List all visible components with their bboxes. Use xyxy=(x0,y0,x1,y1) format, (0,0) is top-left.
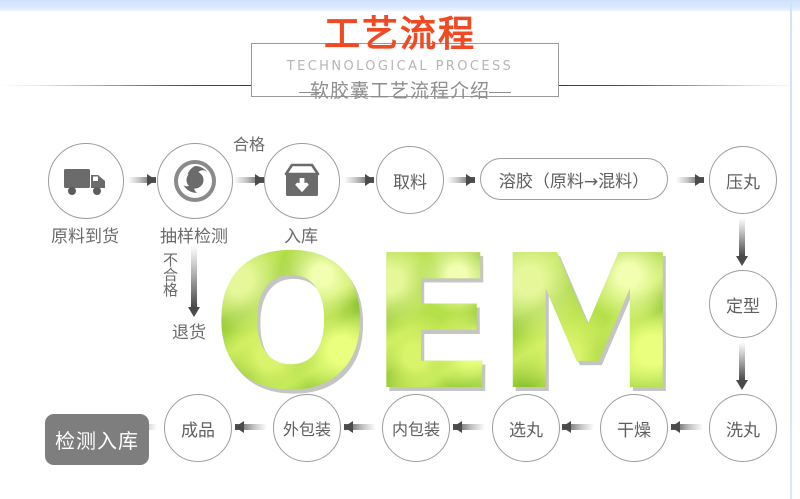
caption-warehouse-in: 入库 xyxy=(234,222,368,247)
node-label-drying: 干燥 xyxy=(617,416,651,441)
edge-label-qualified: 合格 xyxy=(214,131,284,155)
oem-letter-m: M xyxy=(496,248,680,398)
inbox-down-icon xyxy=(282,162,322,200)
node-take-material[interactable]: 取料 xyxy=(376,146,444,214)
oem-watermark: O E M xyxy=(196,238,696,408)
arrow-take-to-gel xyxy=(447,174,475,186)
top-blue-band xyxy=(0,0,800,12)
node-outer-packaging[interactable]: 外包装 xyxy=(273,394,341,462)
node-label-inner-packaging: 内包装 xyxy=(392,416,440,440)
node-final-inspection-storage[interactable]: 检测入库 xyxy=(45,414,149,465)
node-pressing-pill[interactable]: 压丸 xyxy=(709,146,777,214)
inspection-icon xyxy=(173,159,217,203)
node-label-final-inspection-storage: 检测入库 xyxy=(55,425,139,454)
arrow-shaping-to-washing xyxy=(736,342,748,390)
node-label-return-goods: 退货 xyxy=(152,318,226,343)
node-gel-melting[interactable]: 溶胶（原料→混料） xyxy=(480,158,668,200)
node-label-finished-product: 成品 xyxy=(181,416,215,441)
poster-canvas: 工艺流程 TECHNOLOGICAL PROCESS 软胶囊工艺流程介绍 O E… xyxy=(0,0,800,499)
right-blue-rule xyxy=(790,0,792,499)
edge-label-unqualified: 不合格 xyxy=(160,252,181,297)
arrow-selection-to-inner-pack xyxy=(453,421,485,433)
page-subtitle-en: TECHNOLOGICAL PROCESS xyxy=(0,59,800,75)
node-label-gel-melting: 溶胶（原料→混料） xyxy=(499,167,649,192)
node-label-washing-pill: 洗丸 xyxy=(726,416,760,441)
node-label-pill-selection: 选丸 xyxy=(509,416,543,441)
arrow-inner-to-outer-pack xyxy=(344,421,376,433)
node-raw-material-arrival[interactable] xyxy=(48,143,124,219)
node-finished-product[interactable]: 成品 xyxy=(164,394,232,462)
header-block: 工艺流程 TECHNOLOGICAL PROCESS 软胶囊工艺流程介绍 xyxy=(0,16,800,116)
node-washing-pill[interactable]: 洗丸 xyxy=(709,394,777,462)
node-label-take-material: 取料 xyxy=(393,168,427,193)
node-shaping[interactable]: 定型 xyxy=(709,270,777,338)
arrow-reject-down xyxy=(188,245,200,317)
node-label-pressing-pill: 压丸 xyxy=(726,168,760,193)
node-pill-selection[interactable]: 选丸 xyxy=(492,394,560,462)
oem-letter-o: O xyxy=(212,248,365,398)
arrow-washing-to-drying xyxy=(671,421,703,433)
node-warehouse-in[interactable] xyxy=(264,143,340,219)
node-drying[interactable]: 干燥 xyxy=(600,394,668,462)
oem-letter-e: E xyxy=(369,248,491,398)
node-inner-packaging[interactable]: 内包装 xyxy=(382,394,450,462)
arrow-warehouse-to-take xyxy=(344,174,374,186)
arrow-outer-to-finished xyxy=(235,421,267,433)
arrow-arrival-to-sampling xyxy=(128,174,156,186)
arrow-sampling-to-warehouse xyxy=(234,174,264,186)
node-label-shaping: 定型 xyxy=(726,292,760,317)
arrow-gel-to-pressing xyxy=(676,174,704,186)
page-title: 工艺流程 xyxy=(0,16,800,54)
arrow-drying-to-selection xyxy=(562,421,594,433)
truck-icon xyxy=(63,166,109,196)
page-subtitle-cn: 软胶囊工艺流程介绍 xyxy=(0,79,800,103)
arrow-pressing-to-shaping xyxy=(736,218,748,266)
node-label-outer-packaging: 外包装 xyxy=(283,416,331,440)
